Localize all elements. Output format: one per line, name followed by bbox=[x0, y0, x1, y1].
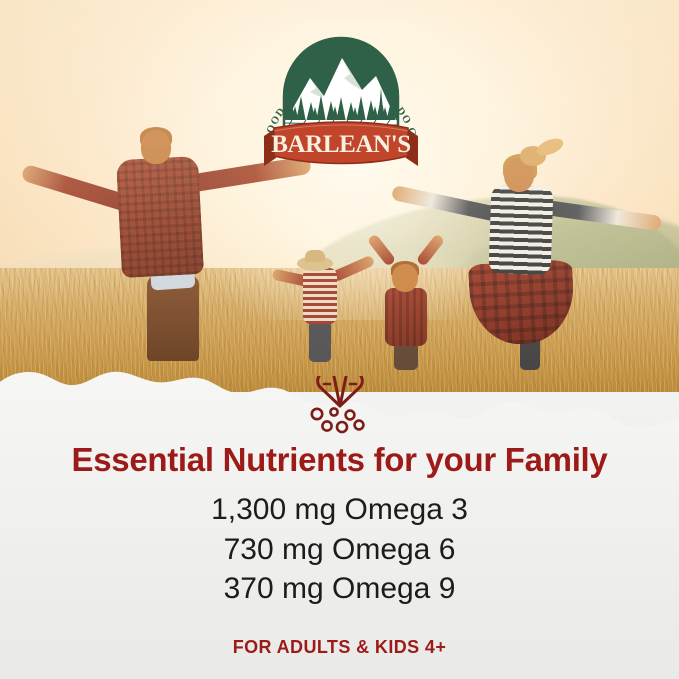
logo-crest bbox=[284, 38, 398, 134]
child-straw-hat-crown bbox=[305, 250, 325, 262]
nutrient-list: 1,300 mg Omega 3 730 mg Omega 6 370 mg O… bbox=[0, 490, 679, 609]
mother-striped-top bbox=[488, 185, 553, 275]
logo-ribbon: BARLEAN'S bbox=[264, 122, 418, 166]
page-title: Essential Nutrients for your Family bbox=[0, 442, 679, 478]
child-hat-striped-shirt bbox=[303, 268, 337, 324]
audience-note: FOR ADULTS & KIDS 4+ bbox=[0, 637, 679, 658]
omega-capsules-droplets-icon bbox=[303, 376, 377, 434]
list-item: 370 mg Omega 9 bbox=[0, 569, 679, 609]
barleans-logo: WE MAKE GOOD STUFF SO YOU CAN DO GOOD ST… bbox=[258, 24, 424, 176]
child-two-head bbox=[392, 264, 418, 292]
father-plaid-shirt bbox=[116, 156, 204, 278]
list-item: 1,300 mg Omega 3 bbox=[0, 490, 679, 530]
father-head bbox=[141, 130, 171, 164]
product-feature-image: WE MAKE GOOD STUFF SO YOU CAN DO GOOD ST… bbox=[0, 0, 679, 679]
logo-brand-name: BARLEAN'S bbox=[271, 131, 411, 158]
list-item: 730 mg Omega 6 bbox=[0, 530, 679, 570]
content-block: Essential Nutrients for your Family 1,30… bbox=[0, 376, 679, 658]
